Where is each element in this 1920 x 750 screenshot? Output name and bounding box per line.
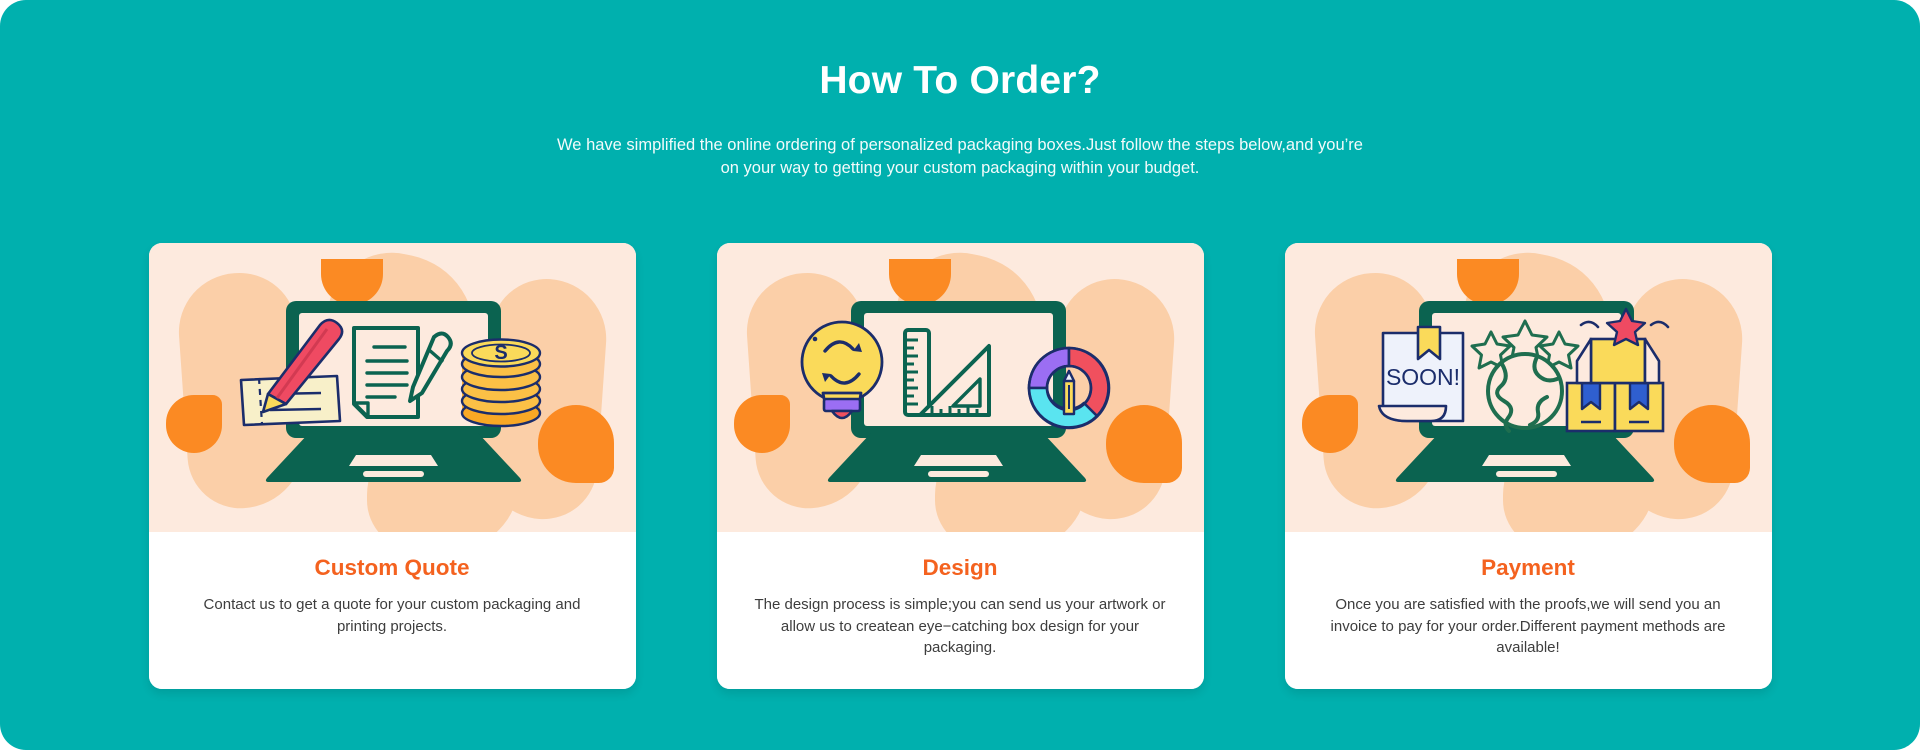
design-artwork	[717, 243, 1204, 532]
how-to-order-section: How To Order? We have simplified the onl…	[0, 0, 1920, 750]
step-card-payment[interactable]: SOON!	[1285, 243, 1772, 689]
note-icon: SOON!	[1379, 327, 1463, 421]
custom-quote-artwork: S	[149, 243, 636, 532]
note-text: SOON!	[1385, 364, 1459, 390]
document-icon	[354, 328, 418, 417]
card-text-custom-quote: Custom Quote Contact us to get a quote f…	[149, 532, 636, 689]
section-header: How To Order? We have simplified the onl…	[0, 0, 1920, 181]
card-illustration-payment: SOON!	[1285, 243, 1772, 532]
card-description: The design process is simple;you can sen…	[751, 594, 1170, 659]
card-illustration-custom-quote: S	[149, 243, 636, 532]
card-title: Design	[751, 554, 1170, 582]
package-box-icon	[1567, 383, 1663, 431]
coin-stack-icon: S	[462, 340, 540, 427]
step-card-custom-quote[interactable]: S	[149, 243, 636, 689]
globe-icon	[1488, 354, 1562, 431]
page-title: How To Order?	[0, 58, 1920, 105]
card-description: Once you are satisfied with the proofs,w…	[1319, 594, 1738, 659]
card-description: Contact us to get a quote for your custo…	[183, 594, 602, 637]
card-text-payment: Payment Once you are satisfied with the …	[1285, 532, 1772, 689]
dollar-sign-icon: S	[494, 342, 507, 364]
donut-chart-icon	[1029, 348, 1109, 428]
steps-card-row: S	[0, 243, 1920, 689]
pencil-icon	[1064, 371, 1074, 414]
step-card-design[interactable]: Design The design process is simple;you …	[717, 243, 1204, 689]
ruler-icon	[905, 330, 929, 415]
card-title: Custom Quote	[183, 554, 602, 582]
page-subtitle: We have simplified the online ordering o…	[550, 134, 1370, 181]
card-text-design: Design The design process is simple;you …	[717, 532, 1204, 689]
card-title: Payment	[1319, 554, 1738, 582]
payment-artwork: SOON!	[1285, 243, 1772, 532]
card-illustration-design	[717, 243, 1204, 532]
